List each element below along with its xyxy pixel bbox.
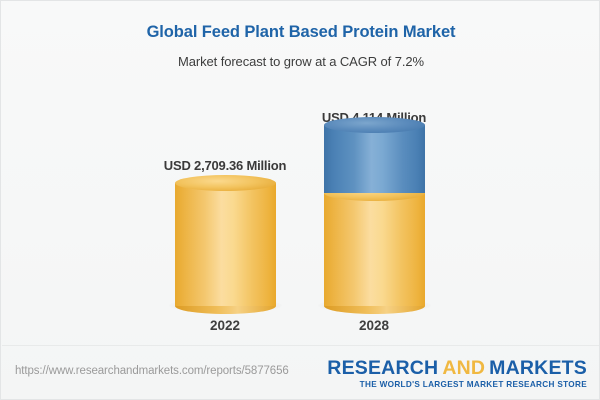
plot-area: USD 2,709.36 Million 2022 USD 4,114 Mill… [1,81,600,341]
category-label-2028: 2028 [299,318,449,333]
cylinder-body [175,183,276,306]
logo-word-and: AND [438,357,489,379]
bar-segment-base-2028 [324,193,425,306]
category-label-2022: 2022 [150,318,300,333]
research-and-markets-logo[interactable]: RESEARCHANDMARKETS THE WORLD'S LARGEST M… [327,358,587,389]
cylinder-cap [175,175,276,191]
chart-subtitle: Market forecast to grow at a CAGR of 7.2… [1,54,600,69]
cylinder-body [324,193,425,306]
logo-word-markets: MARKETS [489,357,587,379]
footer: https://www.researchandmarkets.com/repor… [1,346,600,400]
bar-segment-base-2022 [175,183,276,306]
cylinder-body [324,125,425,193]
value-label-2022: USD 2,709.36 Million [150,158,300,173]
cylinder-cap [324,117,425,133]
logo-word-research: RESEARCH [327,357,438,379]
logo-wordmark: RESEARCHANDMARKETS [327,358,587,378]
chart-card: Global Feed Plant Based Protein Market M… [0,0,600,400]
logo-tagline: THE WORLD'S LARGEST MARKET RESEARCH STOR… [327,380,587,389]
report-url[interactable]: https://www.researchandmarkets.com/repor… [15,365,289,377]
chart-title: Global Feed Plant Based Protein Market [1,23,600,42]
bar-segment-growth-2028 [324,125,425,193]
